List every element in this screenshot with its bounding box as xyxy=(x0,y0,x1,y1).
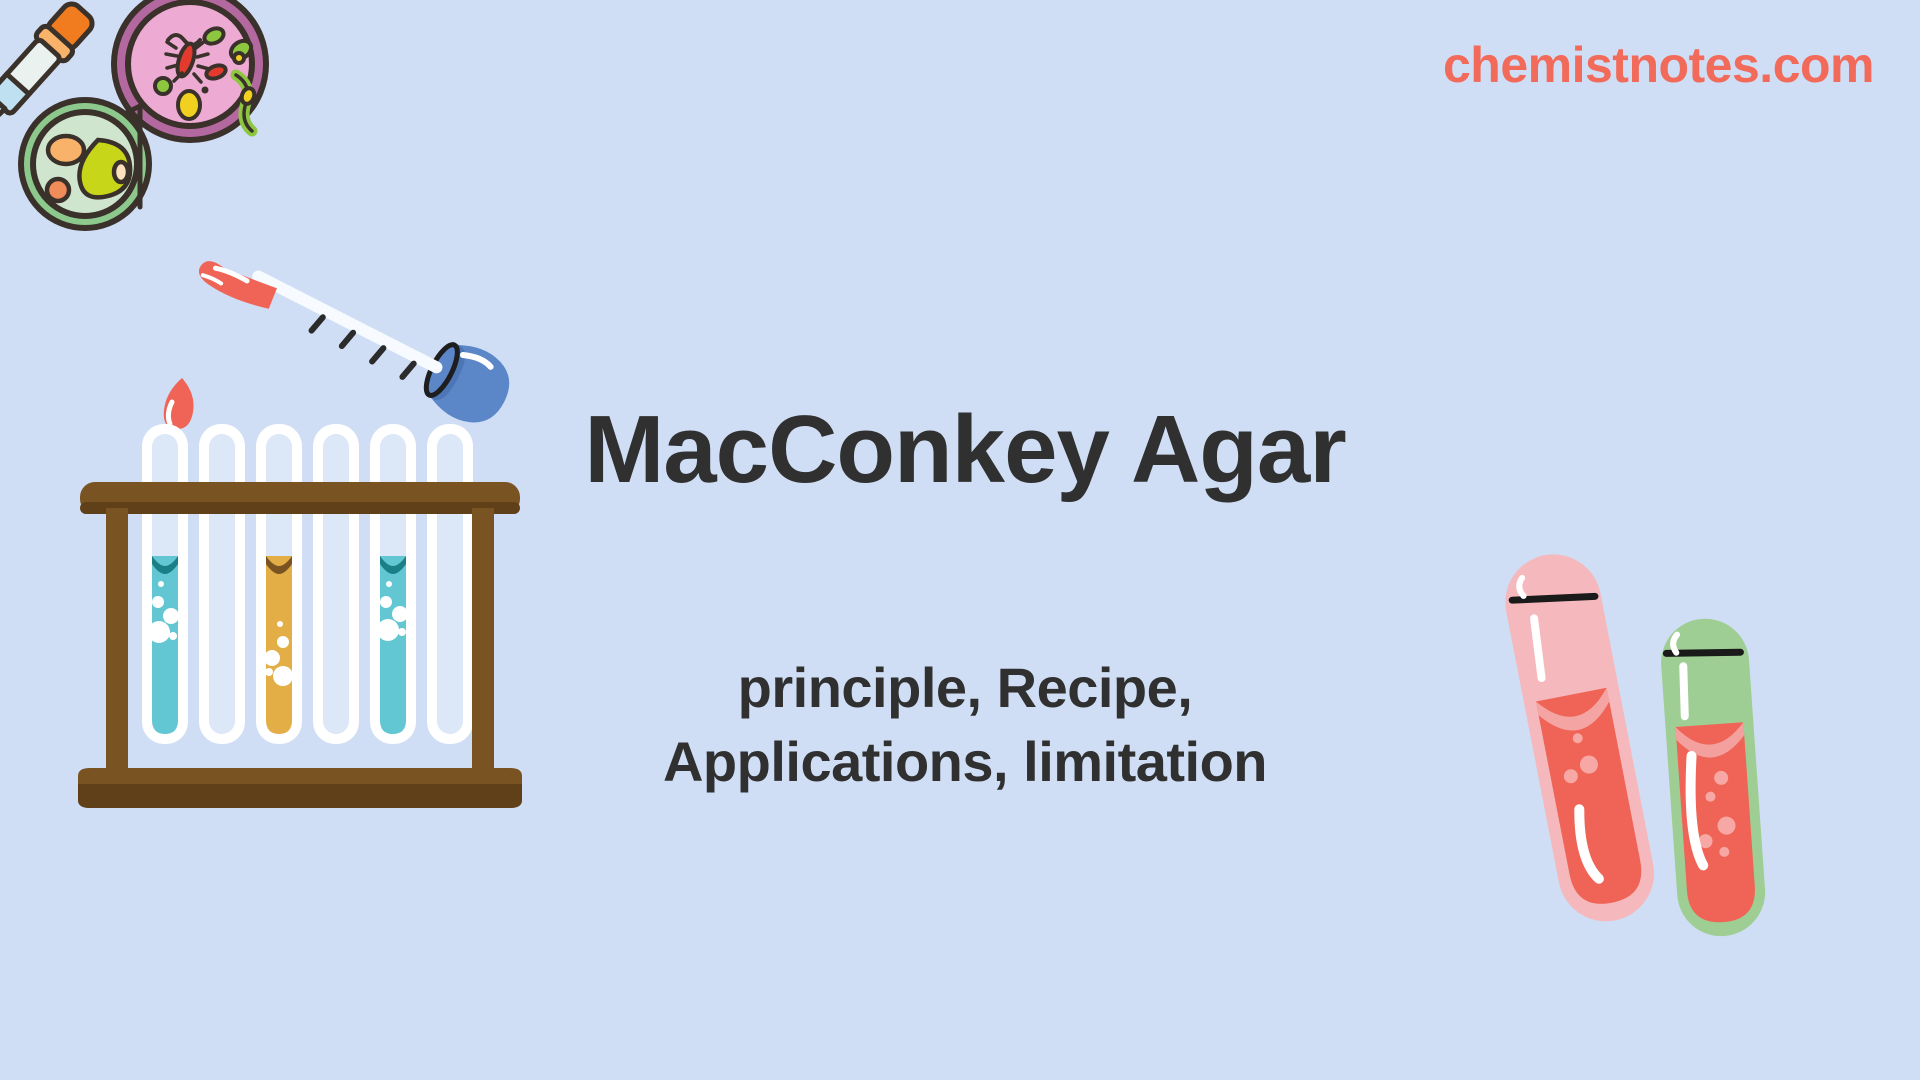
rack-empty-slots xyxy=(199,424,473,744)
site-watermark[interactable]: chemistnotes.com xyxy=(1443,36,1874,94)
green-dish-colonies xyxy=(47,136,130,201)
rack-top-rail xyxy=(80,482,520,514)
pipette-blue-bulb xyxy=(416,333,521,435)
petri-dishes-with-dropper-illustration xyxy=(0,0,270,242)
tilted-test-tubes-illustration xyxy=(1470,540,1860,940)
pipette-graduation-marks xyxy=(312,315,414,378)
page-title: MacConkey Agar xyxy=(560,400,1370,501)
test-tube-rack-illustration xyxy=(70,410,530,820)
rack-base xyxy=(78,768,522,808)
rack-empty-slot-interiors xyxy=(209,434,463,734)
tube-3-bubbles xyxy=(377,581,408,641)
rack-legs xyxy=(106,508,494,770)
subtitle-line-1: principle, Recipe, xyxy=(560,651,1370,725)
subtitle-line-2: Applications, limitation xyxy=(560,725,1370,799)
graduated-pipette-illustration xyxy=(150,200,550,460)
test-tube-1 xyxy=(142,424,188,744)
tilted-green-tube xyxy=(1658,616,1768,939)
magnifier-link-line xyxy=(116,106,140,184)
tilted-pink-tube xyxy=(1497,546,1662,929)
title-block: MacConkey Agar principle, Recipe, Applic… xyxy=(560,400,1370,799)
pink-petri-dish xyxy=(114,0,266,140)
green-tube-bubbles xyxy=(1694,770,1738,858)
tube-1-bubbles xyxy=(148,581,179,643)
pipette-stem xyxy=(242,268,445,391)
pink-dish-microbes xyxy=(155,25,256,131)
tube-2-bubbles xyxy=(264,621,293,686)
pipette-red-liquid-tip xyxy=(194,253,278,315)
green-petri-dish xyxy=(21,100,149,228)
falling-liquid-drop xyxy=(164,378,194,429)
test-tube-3 xyxy=(370,424,416,744)
page-subtitle: principle, Recipe, Applications, limitat… xyxy=(560,651,1370,799)
rack-test-tubes xyxy=(142,424,416,744)
dropper-pipette-icon xyxy=(0,0,98,134)
pink-tube-bubbles xyxy=(1556,730,1600,784)
poster-canvas: chemistnotes.com MacConkey Agar principl… xyxy=(0,0,1920,1080)
test-tube-2 xyxy=(256,424,302,744)
